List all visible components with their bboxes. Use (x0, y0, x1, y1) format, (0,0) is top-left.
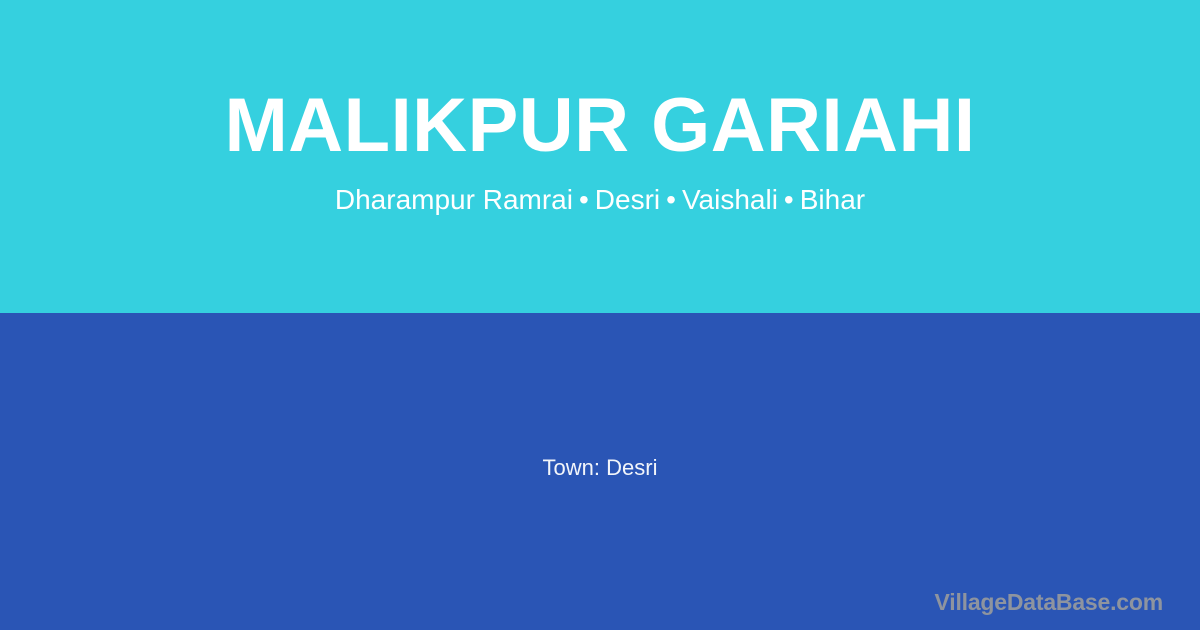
breadcrumb: Dharampur Ramrai•Desri•Vaishali•Bihar (0, 183, 1200, 217)
site-watermark: VillageDataBase.com (935, 588, 1163, 616)
village-info-card: MALIKPUR GARIAHI Dharampur Ramrai•Desri•… (0, 0, 1200, 630)
breadcrumb-district: Vaishali (682, 184, 778, 215)
detail-band: Town: Desri VillageDataBase.com (0, 313, 1200, 630)
hero-band: MALIKPUR GARIAHI Dharampur Ramrai•Desri•… (0, 0, 1200, 313)
page-title: MALIKPUR GARIAHI (0, 84, 1200, 168)
breadcrumb-separator-icon: • (778, 183, 800, 217)
breadcrumb-block: Desri (595, 184, 660, 215)
detail-content: Town: Desri (0, 313, 1200, 630)
breadcrumb-state: Bihar (800, 184, 865, 215)
town-field: Town: Desri (543, 455, 658, 481)
breadcrumb-separator-icon: • (660, 183, 682, 217)
breadcrumb-panchayat: Dharampur Ramrai (335, 184, 573, 215)
breadcrumb-separator-icon: • (573, 183, 595, 217)
